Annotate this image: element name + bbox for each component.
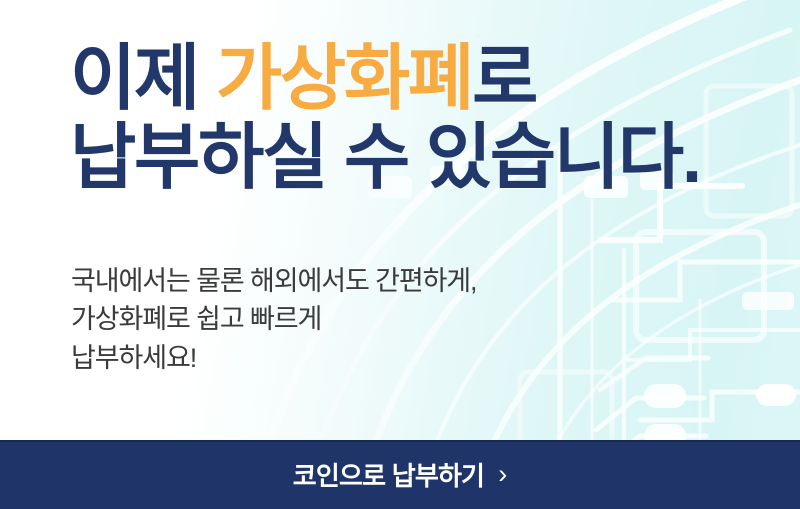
subhead: 국내에서는 물론 해외에서도 간편하게, 가상화폐로 쉽고 빠르게 납부하세요! — [71, 262, 476, 377]
headline-line-1-part-3: 로 — [472, 39, 536, 119]
headline-line-2: 납부하실 수 있습니다. — [70, 123, 700, 194]
headline: 이제 가상화폐로 납부하실 수 있습니다. — [70, 44, 700, 193]
cta-label: 코인으로 납부하기 — [293, 463, 484, 489]
headline-line-1: 이제 가상화폐로 — [70, 44, 700, 115]
headline-line-1-part-1: 이제 — [70, 39, 216, 119]
chevron-right-icon: › — [498, 461, 507, 488]
headline-line-1-highlight: 가상화폐 — [216, 39, 472, 119]
subhead-line-2: 가상화폐로 쉽고 빠르게 — [71, 300, 476, 338]
cta-pay-with-coin-button[interactable]: 코인으로 납부하기 › — [0, 440, 800, 509]
cta-inner: 코인으로 납부하기 › — [293, 462, 507, 489]
crypto-payment-banner: 이제 가상화폐로 납부하실 수 있습니다. 국내에서는 물론 해외에서도 간편하… — [0, 0, 800, 509]
banner-content: 이제 가상화폐로 납부하실 수 있습니다. 국내에서는 물론 해외에서도 간편하… — [0, 0, 800, 440]
subhead-line-3: 납부하세요! — [71, 339, 476, 377]
subhead-line-1: 국내에서는 물론 해외에서도 간편하게, — [71, 262, 476, 300]
